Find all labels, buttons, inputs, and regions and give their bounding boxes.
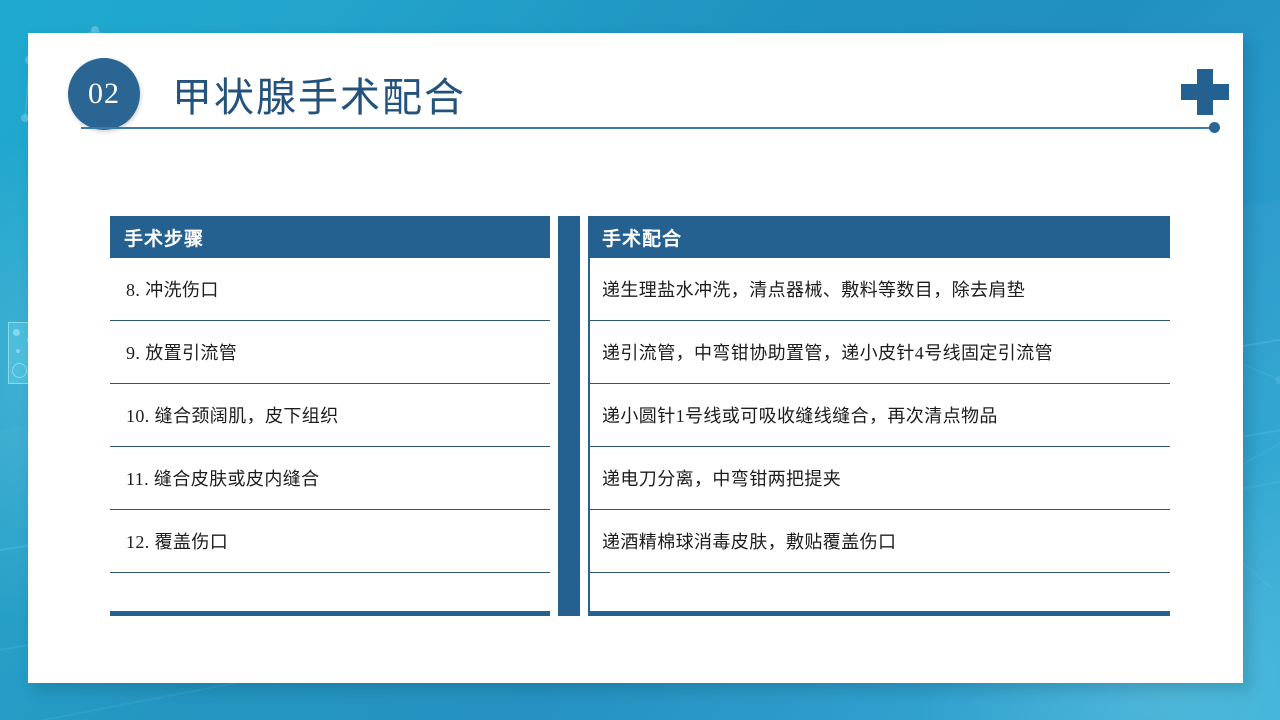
title-underline: [81, 127, 1211, 129]
step-cell-text: 10. 缝合颈阔肌，皮下组织: [126, 402, 339, 428]
page-title: 甲状腺手术配合: [172, 65, 466, 123]
table-row: 递小圆针1号线或可吸收缝线缝合，再次清点物品: [588, 384, 1170, 447]
medical-cross-icon: [1176, 67, 1234, 121]
table-header-steps: 手术步骤: [110, 216, 550, 258]
table-row: 9. 放置引流管: [110, 321, 550, 384]
table-bottom-border-right: [588, 611, 1170, 616]
table-row: 递引流管，中弯钳协助置管，递小皮针4号线固定引流管: [588, 321, 1170, 384]
column-divider: [558, 216, 580, 616]
section-number-badge: 02: [68, 58, 140, 130]
table-row: 10. 缝合颈阔肌，皮下组织: [110, 384, 550, 447]
title-underline-dot: [1209, 122, 1220, 133]
step-cell-text: 12. 覆盖伤口: [126, 528, 228, 554]
table-row: 8. 冲洗伤口: [110, 258, 550, 321]
table-header-coordination: 手术配合: [588, 216, 1170, 258]
table-row: 递生理盐水冲洗，清点器械、敷料等数目，除去肩垫: [588, 258, 1170, 321]
slide-content-card: 02 甲状腺手术配合 手术步骤 8. 冲洗伤口 9. 放置引流管: [28, 33, 1243, 683]
coordination-cell-text: 递酒精棉球消毒皮肤，敷贴覆盖伤口: [602, 528, 896, 554]
table-header-coordination-label: 手术配合: [602, 224, 682, 251]
table-row: 递电刀分离，中弯钳两把提夹: [588, 447, 1170, 510]
table-left-edge-accent: [588, 258, 590, 611]
slide-canvas: 02 甲状腺手术配合 手术步骤 8. 冲洗伤口 9. 放置引流管: [0, 0, 1280, 720]
step-cell-text: 8. 冲洗伤口: [126, 276, 219, 302]
coordination-cell-text: 递小圆针1号线或可吸收缝线缝合，再次清点物品: [602, 402, 998, 428]
coordination-cell-text: 递引流管，中弯钳协助置管，递小皮针4号线固定引流管: [602, 339, 1053, 365]
procedure-table: 手术步骤 8. 冲洗伤口 9. 放置引流管 10. 缝合颈阔肌，皮下组织 11.…: [110, 216, 1170, 616]
table-row: 12. 覆盖伤口: [110, 510, 550, 573]
step-cell-text: 11. 缝合皮肤或皮内缝合: [126, 465, 320, 491]
table-header-steps-label: 手术步骤: [124, 224, 204, 251]
table-row: 递酒精棉球消毒皮肤，敷贴覆盖伤口: [588, 510, 1170, 573]
step-cell-text: 9. 放置引流管: [126, 339, 237, 365]
coordination-cell-text: 递电刀分离，中弯钳两把提夹: [602, 465, 841, 491]
table-column-steps: 手术步骤 8. 冲洗伤口 9. 放置引流管 10. 缝合颈阔肌，皮下组织 11.…: [110, 216, 550, 616]
table-column-coordination: 手术配合 递生理盐水冲洗，清点器械、敷料等数目，除去肩垫 递引流管，中弯钳协助置…: [588, 216, 1170, 616]
slide-header: 02 甲状腺手术配合: [28, 33, 1243, 138]
coordination-cell-text: 递生理盐水冲洗，清点器械、敷料等数目，除去肩垫: [602, 276, 1025, 302]
table-bottom-border-left: [110, 611, 550, 616]
table-row: 11. 缝合皮肤或皮内缝合: [110, 447, 550, 510]
